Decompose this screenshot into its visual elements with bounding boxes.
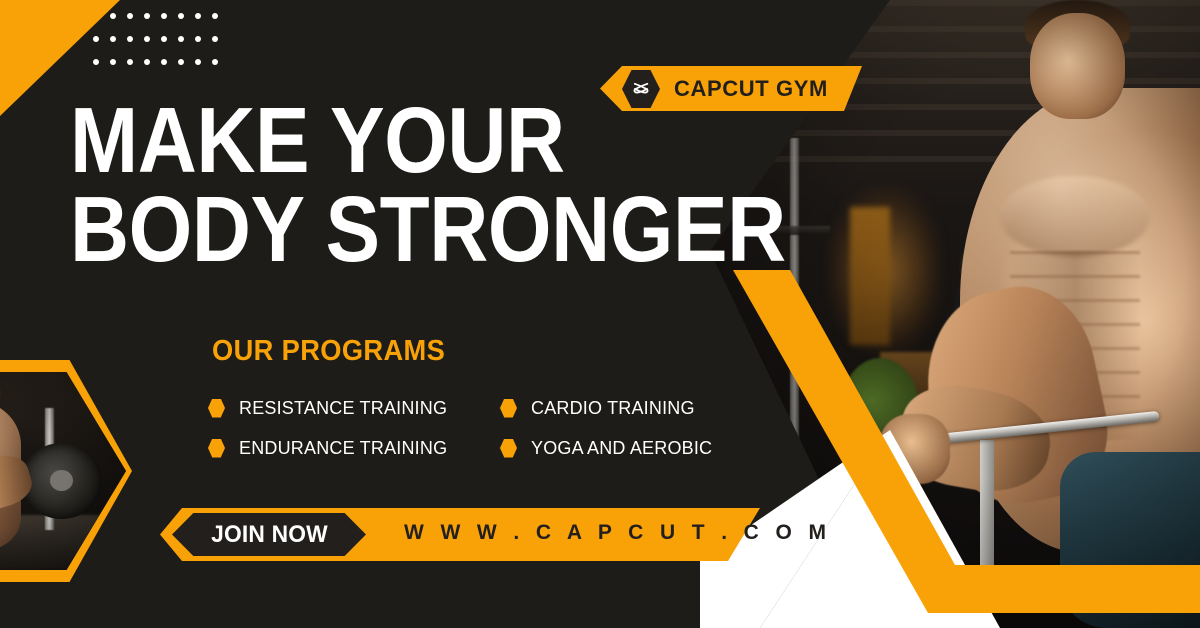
program-item-endurance-training[interactable]: ENDURANCE TRAINING — [208, 438, 500, 459]
dot-grid-decoration — [93, 13, 229, 82]
programs-list: RESISTANCE TRAINING CARDIO TRAINING ENDU… — [208, 388, 748, 468]
program-label: YOGA AND AEROBIC — [531, 438, 712, 459]
hexagon-bullet-icon — [500, 399, 517, 418]
join-now-button[interactable]: JOIN NOW — [172, 513, 366, 556]
website-url[interactable]: W W W . C A P C U T . C O M — [404, 521, 831, 545]
headline-line-2: BODY STRONGER — [70, 185, 616, 274]
program-label: CARDIO TRAINING — [531, 398, 695, 419]
program-item-yoga-and-aerobic[interactable]: YOGA AND AEROBIC — [500, 438, 740, 459]
headline: MAKE YOUR BODY STRONGER — [70, 96, 690, 275]
program-item-resistance-training[interactable]: RESISTANCE TRAINING — [208, 398, 500, 419]
hexagon-bullet-icon — [500, 439, 517, 458]
program-label: ENDURANCE TRAINING — [239, 438, 447, 459]
join-now-label: JOIN NOW — [211, 521, 328, 549]
program-item-cardio-training[interactable]: CARDIO TRAINING — [500, 398, 740, 419]
hexagon-bullet-icon — [208, 399, 225, 418]
brand-name-label: CAPCUT GYM — [674, 76, 828, 102]
headline-line-1: MAKE YOUR — [70, 96, 616, 185]
program-label: RESISTANCE TRAINING — [239, 398, 447, 419]
programs-heading: OUR PROGRAMS — [212, 335, 445, 368]
gym-promo-banner: CAPCUT GYM MAKE YOUR BODY STRONGER OUR P… — [0, 0, 1200, 628]
hexagon-bullet-icon — [208, 439, 225, 458]
